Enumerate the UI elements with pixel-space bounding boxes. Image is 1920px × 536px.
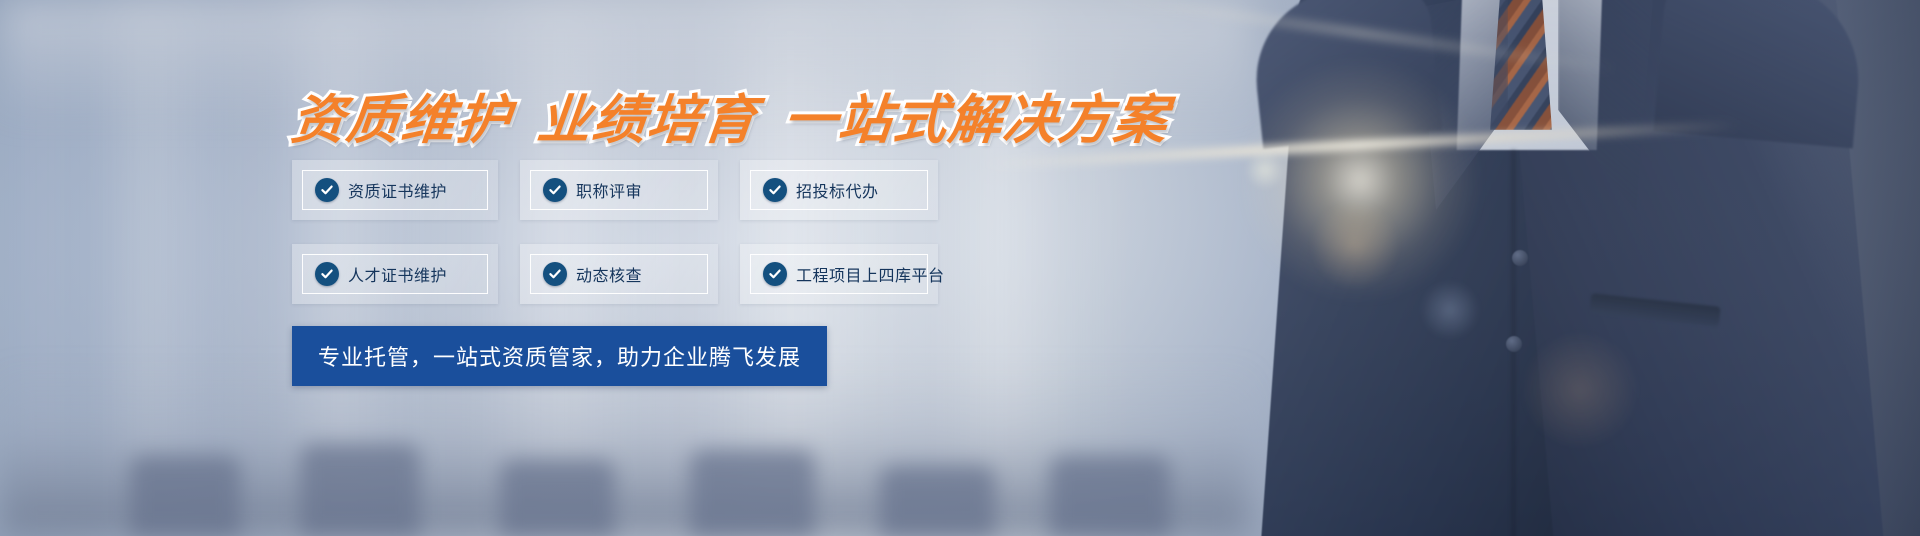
- feature-label: 资质证书维护: [348, 178, 447, 202]
- feature-label: 工程项目上四库平台: [796, 262, 945, 286]
- check-circle-icon: [763, 178, 787, 202]
- check-circle-icon: [543, 178, 567, 202]
- lens-flare-ghost: [1520, 330, 1640, 450]
- feature-grid: 资质证书维护 职称评审: [292, 160, 960, 304]
- feature-row: 人才证书维护 动态核查: [292, 244, 960, 304]
- promo-banner: 资质维护业绩培育一站式解决方案 资质证书维护: [0, 0, 1920, 536]
- banner-headline: 资质维护业绩培育一站式解决方案: [288, 78, 1173, 154]
- lens-flare-ghost: [1420, 280, 1480, 340]
- feature-label: 职称评审: [576, 178, 642, 202]
- feature-label: 人才证书维护: [348, 262, 447, 286]
- headline-part-2: 业绩培育: [534, 90, 760, 151]
- tagline-bar: 专业托管，一站式资质管家，助力企业腾飞发展: [292, 326, 827, 386]
- lens-flare-ghost: [1245, 150, 1285, 190]
- headline-part-3: 一站式解决方案: [780, 90, 1171, 151]
- lens-flare-ghost: [1310, 200, 1400, 290]
- feature-card-bidding-agency[interactable]: 招投标代办: [740, 160, 938, 220]
- feature-card-title-review[interactable]: 职称评审: [520, 160, 718, 220]
- feature-card-talent-certificate[interactable]: 人才证书维护: [292, 244, 498, 304]
- check-circle-icon: [315, 262, 339, 286]
- check-circle-icon: [543, 262, 567, 286]
- banner-content: 资质维护业绩培育一站式解决方案 资质证书维护: [0, 0, 1100, 536]
- check-circle-icon: [315, 178, 339, 202]
- feature-label: 动态核查: [576, 262, 642, 286]
- feature-label: 招投标代办: [796, 178, 879, 202]
- feature-card-dynamic-inspection[interactable]: 动态核查: [520, 244, 718, 304]
- feature-row: 资质证书维护 职称评审: [292, 160, 960, 220]
- feature-card-qualification-certificate[interactable]: 资质证书维护: [292, 160, 498, 220]
- check-circle-icon: [763, 262, 787, 286]
- feature-card-four-database-platform[interactable]: 工程项目上四库平台: [740, 244, 938, 304]
- headline-part-1: 资质维护: [288, 90, 514, 151]
